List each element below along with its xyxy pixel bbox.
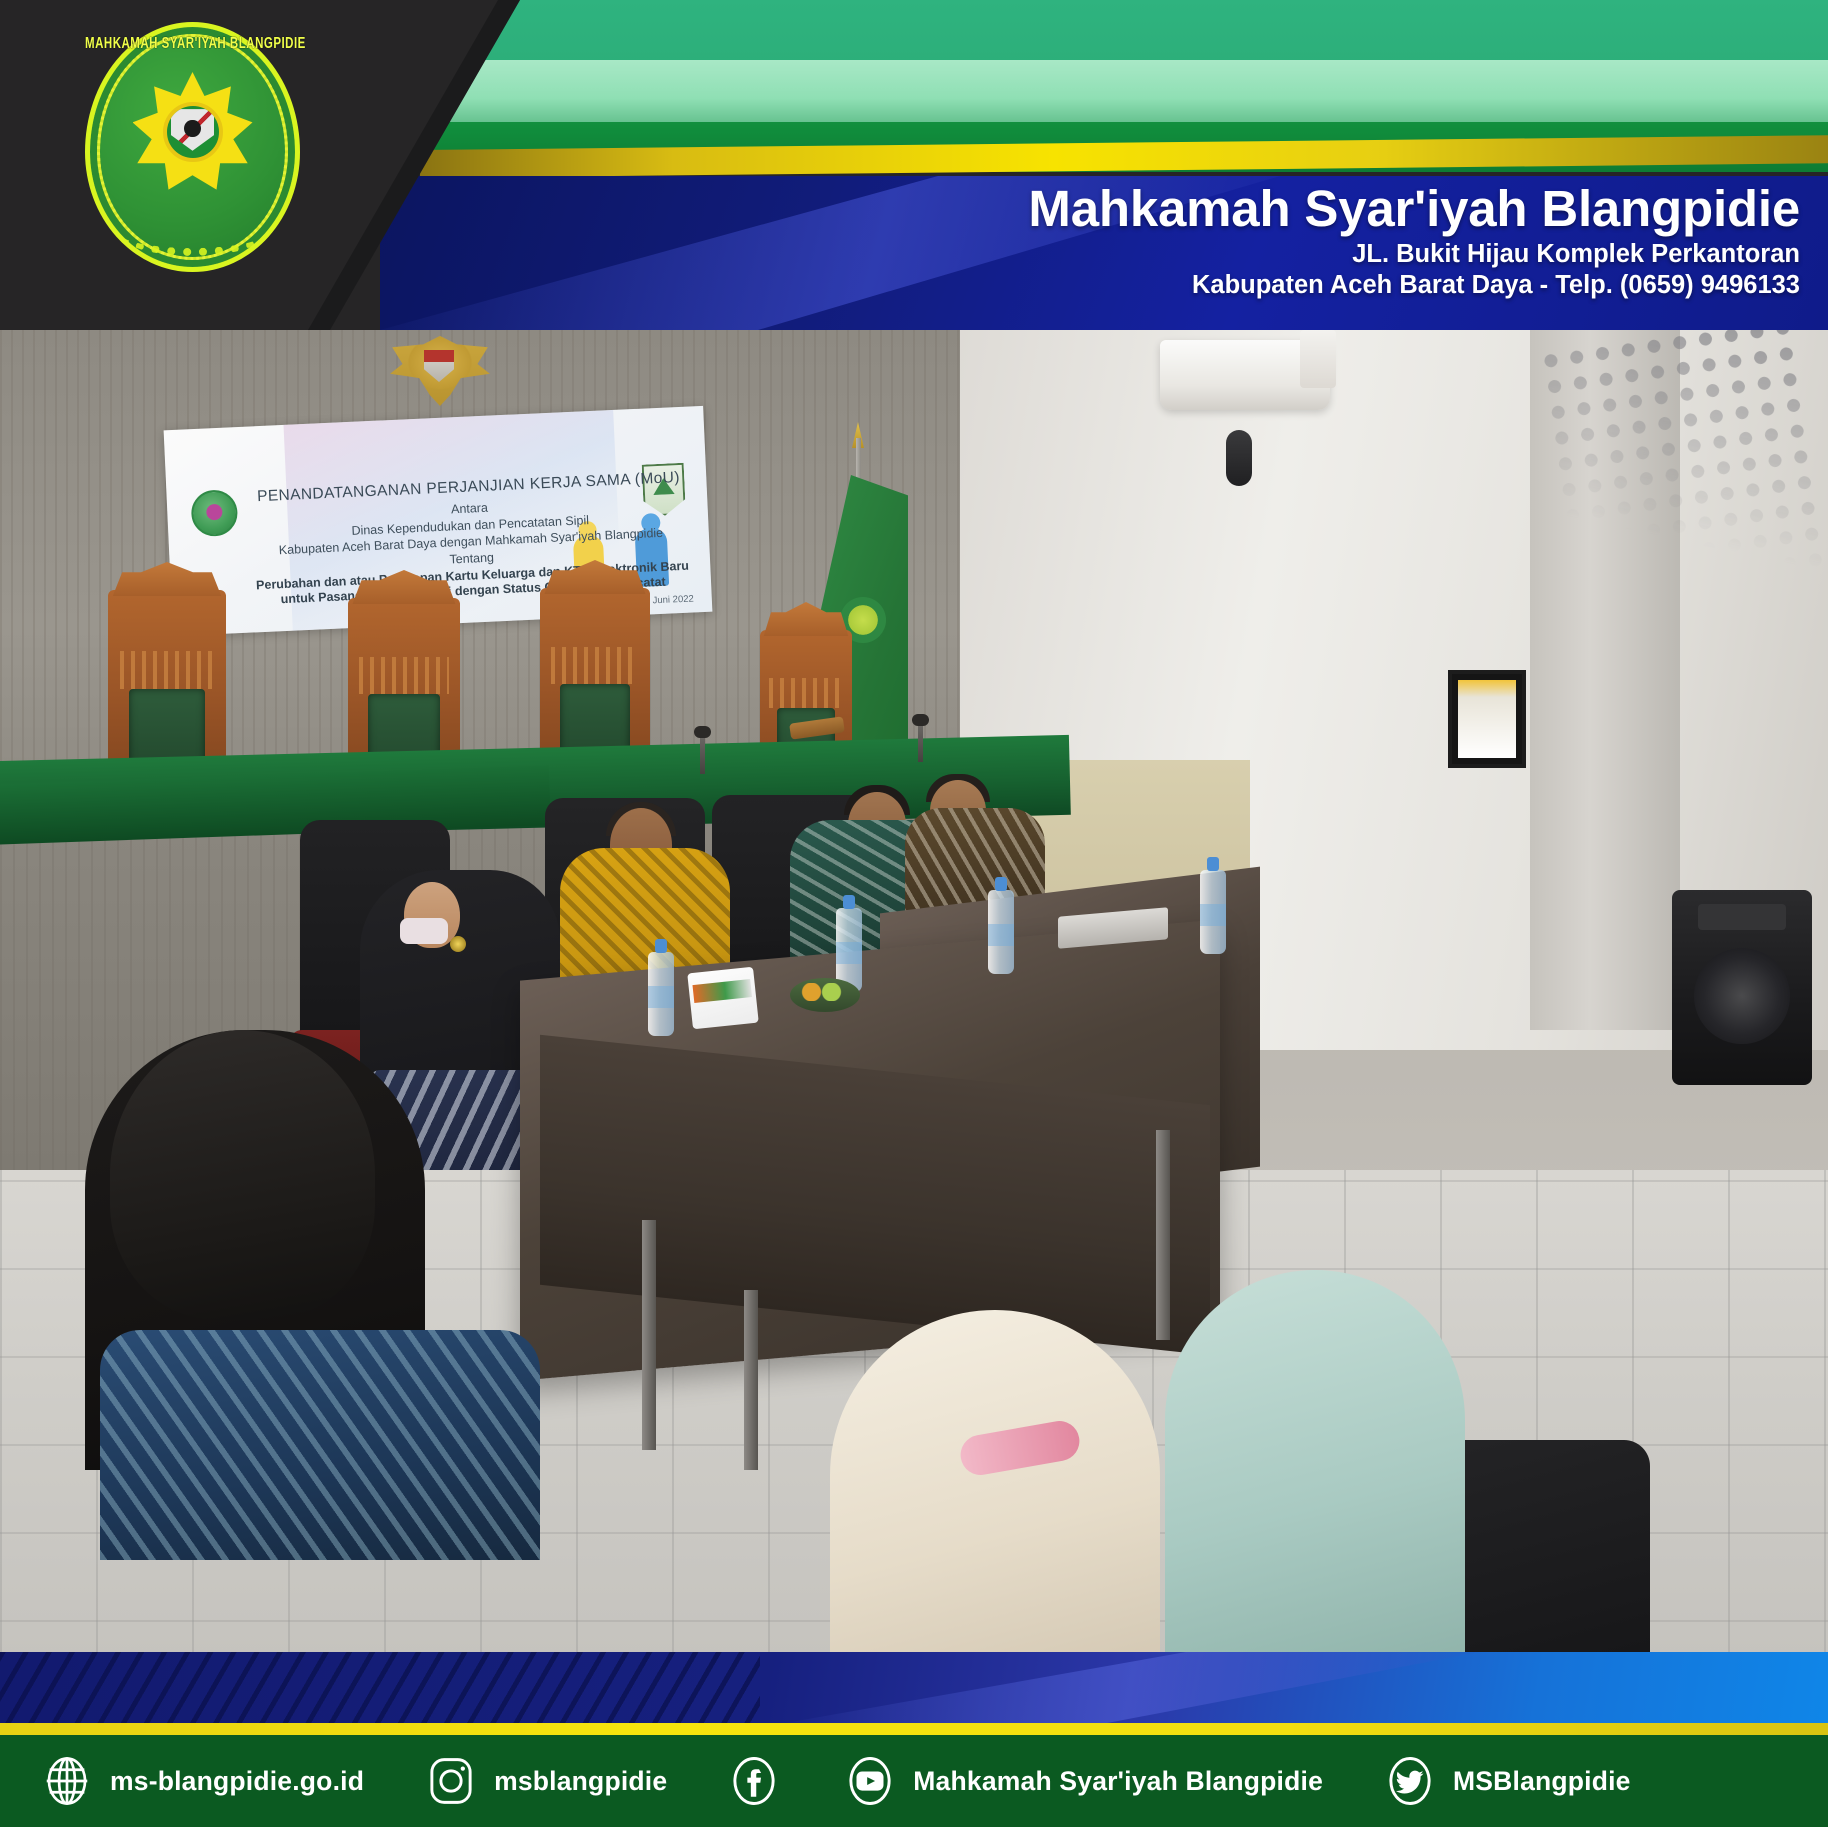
table-leg-1 xyxy=(642,1220,656,1450)
chair-slats xyxy=(769,678,843,708)
foreground-person-1-shirt xyxy=(100,1330,540,1560)
instagram-icon xyxy=(424,1754,478,1808)
water-bottle-4 xyxy=(1200,870,1226,954)
ac-pipe-cover xyxy=(1300,330,1336,388)
poster-root: MAHKAMAH SYAR'IYAH BLANGPIDIE Mahkamah S… xyxy=(0,0,1828,1827)
footer-blue-facet xyxy=(780,1652,1480,1724)
twitter-icon xyxy=(1383,1754,1437,1808)
footer-item-twitter[interactable]: MSBlangpidie xyxy=(1383,1754,1631,1808)
social-footer: ms-blangpidie.go.id msblangpidie xyxy=(0,1735,1828,1827)
table-leg-3 xyxy=(744,1290,758,1470)
chair-slats xyxy=(359,657,449,694)
foreground-person-1-head xyxy=(110,1030,375,1320)
water-bottle-1 xyxy=(648,952,674,1036)
wall-picture-frame xyxy=(1448,670,1526,768)
person-1-brooch xyxy=(450,936,466,952)
judge-chair-3 xyxy=(540,588,650,772)
person-1-face-mask xyxy=(400,918,448,944)
footer-instagram-label: msblangpidie xyxy=(494,1766,667,1797)
facebook-icon xyxy=(727,1754,781,1808)
footer-dot-pattern xyxy=(0,1652,760,1724)
footer-item-facebook[interactable] xyxy=(727,1754,797,1808)
footer-yellow-stripe xyxy=(0,1723,1828,1735)
court-logo: MAHKAMAH SYAR'IYAH BLANGPIDIE xyxy=(85,22,300,272)
header-address-line-1: JL. Bukit Hijau Komplek Perkantoran xyxy=(1028,239,1800,270)
event-photo: PENANDATANGANAN PERJANJIAN KERJA SAMA (M… xyxy=(0,330,1828,1707)
snack-plate xyxy=(790,978,860,1012)
microphone-2 xyxy=(700,734,705,774)
logo-crest-icon xyxy=(163,102,223,162)
footer-item-website[interactable]: ms-blangpidie.go.id xyxy=(40,1754,364,1808)
table-leg-2 xyxy=(1156,1130,1170,1340)
foreground-person-3-hijab xyxy=(1165,1270,1465,1690)
globe-icon xyxy=(40,1754,94,1808)
halftone-dots-decoration xyxy=(1536,330,1828,676)
logo-wreath-icon xyxy=(119,210,265,256)
tissue-pack xyxy=(687,967,758,1030)
wall-speaker xyxy=(1226,430,1252,486)
header-address-line-2: Kabupaten Aceh Barat Daya - Telp. (0659)… xyxy=(1028,270,1800,301)
chair-slats xyxy=(120,651,214,689)
floor-speaker xyxy=(1672,890,1812,1085)
judge-chair-1 xyxy=(108,590,226,780)
water-bottle-3 xyxy=(988,890,1014,974)
footer-website-label: ms-blangpidie.go.id xyxy=(110,1766,364,1797)
footer-blue-band xyxy=(0,1652,1828,1724)
foreground-person-2-hijab xyxy=(830,1310,1160,1707)
footer-youtube-label: Mahkamah Syar'iyah Blangpidie xyxy=(913,1766,1323,1797)
logo-ring-label: MAHKAMAH SYAR'IYAH BLANGPIDIE xyxy=(85,36,300,53)
footer-twitter-label: MSBlangpidie xyxy=(1453,1766,1631,1797)
chair-slats xyxy=(551,647,639,684)
page-header: MAHKAMAH SYAR'IYAH BLANGPIDIE Mahkamah S… xyxy=(0,0,1828,330)
footer-item-instagram[interactable]: msblangpidie xyxy=(424,1754,667,1808)
microphone-1 xyxy=(918,722,923,762)
youtube-icon xyxy=(843,1754,897,1808)
page-title: Mahkamah Syar'iyah Blangpidie xyxy=(1028,182,1800,236)
header-title-block: Mahkamah Syar'iyah Blangpidie JL. Bukit … xyxy=(1028,182,1800,301)
footer-item-youtube[interactable]: Mahkamah Syar'iyah Blangpidie xyxy=(843,1754,1323,1808)
